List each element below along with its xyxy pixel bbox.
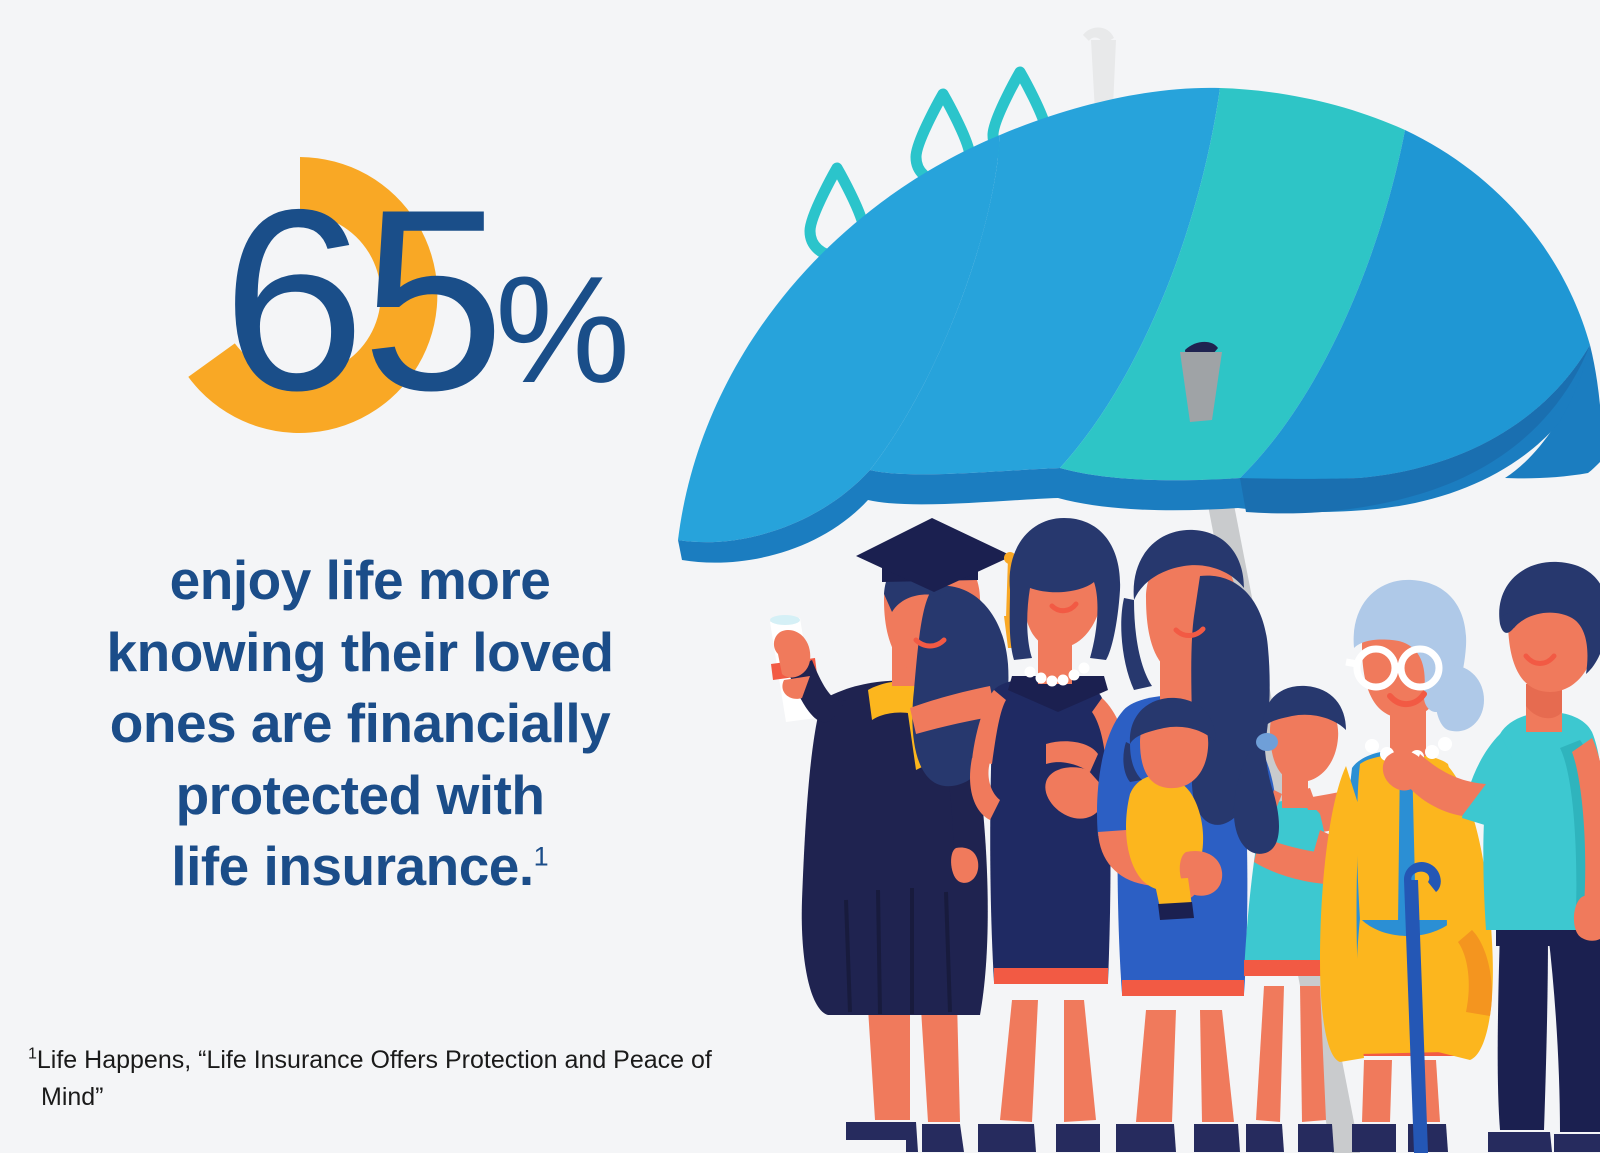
mother-shoe-right [1194,1124,1240,1152]
girl-hair-tie [1256,733,1278,751]
graduate-shoe-right [922,1124,964,1152]
umbrella-canopy [678,88,1600,563]
person-grandmother [1320,580,1493,1153]
infographic-poster: 65% enjoy life more knowing their loved … [0,0,1600,1153]
girl-shoe-left [1246,1124,1284,1152]
footnote-text: Life Happens, “Life Insurance Offers Pro… [37,1046,712,1111]
headline-line-4: protected with [30,760,690,832]
grandma-leg-left [1362,1060,1392,1122]
footnote-marker: 1 [28,1046,37,1063]
man-leg-back [1498,930,1548,1130]
navy-dress-hem [994,968,1108,984]
navy-dress [990,678,1110,982]
graduate-shoe-left [846,1122,918,1152]
man-shoe-back [1488,1132,1552,1152]
headline-line-1: enjoy life more [30,545,690,617]
headline-line-3: ones are financially [30,688,690,760]
footnote: 1Life Happens, “Life Insurance Offers Pr… [28,1042,731,1116]
girl-leg-left [1256,986,1284,1122]
mother-dress-hem [1122,980,1244,996]
family-under-umbrella-illustration [660,0,1600,1153]
donut-arc-segment [188,157,437,433]
headline-line-2: knowing their loved [30,617,690,689]
headline-footnote-marker: 1 [534,842,549,872]
headline-line-5: life insurance. [171,835,533,897]
navy-shoe-left [978,1124,1036,1152]
stat-percent-symbol: % [495,254,630,406]
donut-chart [140,135,460,455]
man-hand-right [1574,895,1600,941]
grandma-hair-bun [1435,665,1484,731]
navy-shoe-right [1056,1124,1100,1152]
mother-leg-left [1136,1010,1176,1122]
grandma-shoe-left [1352,1124,1396,1152]
man-leg-front [1548,930,1600,1132]
headline-line-5-wrap: life insurance.1 [30,831,690,903]
mother-shoe-left [1116,1124,1176,1152]
stat-block: 65% [0,110,720,490]
mother-leg-right [1200,1010,1234,1122]
navy-leg-right [1064,1000,1096,1122]
person-graduate-woman [770,518,1016,1152]
girl-shoe-right [1298,1124,1334,1152]
man-shoe-front [1554,1134,1600,1152]
headline: enjoy life more knowing their loved ones… [30,545,690,903]
navy-leg-left [1000,1000,1038,1122]
baby-foot [1158,902,1194,920]
